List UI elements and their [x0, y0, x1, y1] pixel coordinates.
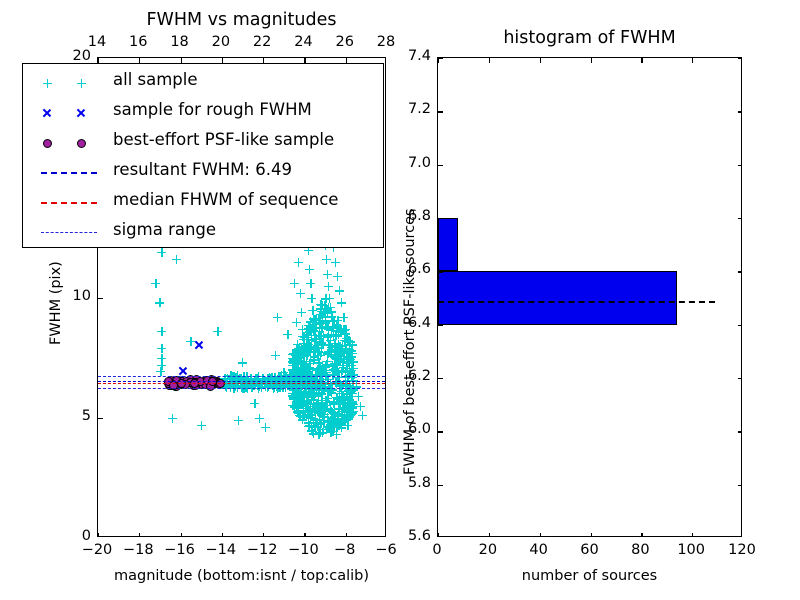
y-tick-mark — [438, 165, 443, 166]
right-y-tick-label: 5.8 — [385, 475, 431, 491]
left-top-tick-label: 22 — [240, 34, 284, 50]
right-x-tick-label: 0 — [415, 542, 459, 558]
x-tick-mark — [263, 533, 264, 536]
right-y-tick-label: 7.4 — [385, 48, 431, 64]
left-top-tick-label: 26 — [323, 34, 367, 50]
right-yaxis-label: FWHM of best-effort PSF-like sources — [402, 208, 418, 475]
y-tick-mark — [98, 298, 103, 299]
legend-dashed-line-icon — [41, 172, 97, 174]
left-x-tick-label: −6 — [364, 542, 408, 558]
legend-item: resultant FWHM: 6.49 — [23, 158, 383, 188]
legend-dashdot-line-icon — [41, 232, 97, 233]
x-tick-mark — [304, 533, 305, 536]
x-tick-mark-top — [591, 58, 592, 63]
legend-plus-icon — [77, 79, 86, 88]
legend-dashed-line-icon — [41, 202, 97, 204]
y-tick-mark — [438, 325, 443, 326]
x-tick-mark — [692, 533, 693, 536]
legend-label: sigma range — [113, 220, 216, 239]
y-tick-mark-right — [738, 111, 741, 112]
right-panel-title: histogram of FWHM — [437, 28, 742, 48]
x-tick-mark-top — [540, 58, 541, 63]
x-tick-mark — [489, 533, 490, 536]
y-tick-mark — [438, 431, 443, 432]
y-tick-mark — [438, 485, 443, 486]
legend-label: best-effort PSF-like sample — [113, 130, 334, 149]
right-x-tick-label: 120 — [720, 542, 764, 558]
left-x-tick-label: −14 — [199, 542, 243, 558]
y-tick-mark-right — [738, 165, 741, 166]
y-tick-mark — [438, 378, 443, 379]
y-tick-mark-right — [738, 58, 741, 59]
left-xaxis-label: magnitude (bottom:isnt / top:calib) — [97, 568, 386, 584]
y-tick-mark — [438, 58, 443, 59]
legend-label: all sample — [113, 70, 198, 89]
right-x-tick-label: 100 — [669, 542, 713, 558]
legend-item: sample for rough FWHM — [23, 98, 383, 128]
x-tick-mark-top — [489, 58, 490, 63]
histogram-axes — [437, 57, 742, 537]
left-yaxis-label: FWHM (pix) — [48, 261, 64, 345]
y-tick-mark — [438, 271, 443, 272]
right-y-tick-label: 5.6 — [385, 528, 431, 544]
legend-dot-icon — [77, 139, 86, 148]
left-x-tick-label: −18 — [116, 542, 160, 558]
left-x-tick-label: −20 — [75, 542, 119, 558]
figure-canvas: FWHM vs magnitudes −20−18−16−14−12−10−8−… — [0, 0, 800, 600]
x-tick-mark-top — [692, 58, 693, 63]
right-tick-marks — [438, 58, 741, 536]
legend-item: sigma range — [23, 218, 383, 248]
legend-cross-icon — [42, 108, 52, 118]
left-y-tick-label: 5 — [45, 408, 91, 424]
right-y-tick-label: 7.0 — [385, 155, 431, 171]
legend-cross-icon — [76, 108, 86, 118]
legend-label: sample for rough FWHM — [113, 100, 312, 119]
legend-label: resultant FWHM: 6.49 — [113, 160, 292, 179]
left-top-tick-label: 20 — [199, 34, 243, 50]
x-tick-mark — [591, 533, 592, 536]
x-tick-mark — [181, 533, 182, 536]
legend-dot-icon — [43, 139, 52, 148]
legend-item: best-effort PSF-like sample — [23, 128, 383, 158]
right-x-tick-label: 80 — [618, 542, 662, 558]
left-x-tick-label: −16 — [158, 542, 202, 558]
legend-item: median FHWM of sequence — [23, 188, 383, 218]
x-tick-mark — [438, 533, 439, 536]
x-tick-mark — [346, 533, 347, 536]
left-top-tick-label: 16 — [116, 34, 160, 50]
left-x-tick-label: −12 — [240, 542, 284, 558]
right-y-tick-label: 7.2 — [385, 101, 431, 117]
x-tick-mark — [139, 533, 140, 536]
left-x-tick-label: −10 — [281, 542, 325, 558]
x-tick-mark — [540, 533, 541, 536]
legend-label: median FHWM of sequence — [113, 190, 338, 209]
y-tick-mark-right — [738, 431, 741, 432]
right-x-tick-label: 20 — [466, 542, 510, 558]
x-tick-mark — [222, 533, 223, 536]
left-panel-title: FWHM vs magnitudes — [97, 10, 386, 30]
left-top-tick-label: 24 — [281, 34, 325, 50]
y-tick-mark-right — [738, 378, 741, 379]
right-x-tick-label: 40 — [517, 542, 561, 558]
x-tick-mark-top — [641, 58, 642, 63]
x-tick-mark — [98, 533, 99, 536]
left-x-tick-label: −8 — [323, 542, 367, 558]
y-tick-mark — [98, 418, 103, 419]
left-y-tick-label: 0 — [45, 528, 91, 544]
left-y-tick-label: 20 — [45, 48, 91, 64]
y-tick-mark — [438, 111, 443, 112]
y-tick-mark-right — [738, 218, 741, 219]
legend-box: all samplesample for rough FWHMbest-effo… — [22, 63, 384, 248]
right-x-tick-label: 60 — [568, 542, 612, 558]
y-tick-mark-right — [738, 485, 741, 486]
y-tick-mark — [438, 218, 443, 219]
left-top-tick-label: 18 — [158, 34, 202, 50]
y-tick-mark-right — [738, 271, 741, 272]
x-tick-mark — [641, 533, 642, 536]
right-xaxis-label: number of sources — [437, 568, 742, 584]
y-tick-mark-right — [738, 325, 741, 326]
legend-item: all sample — [23, 68, 383, 98]
legend-plus-icon — [43, 79, 52, 88]
